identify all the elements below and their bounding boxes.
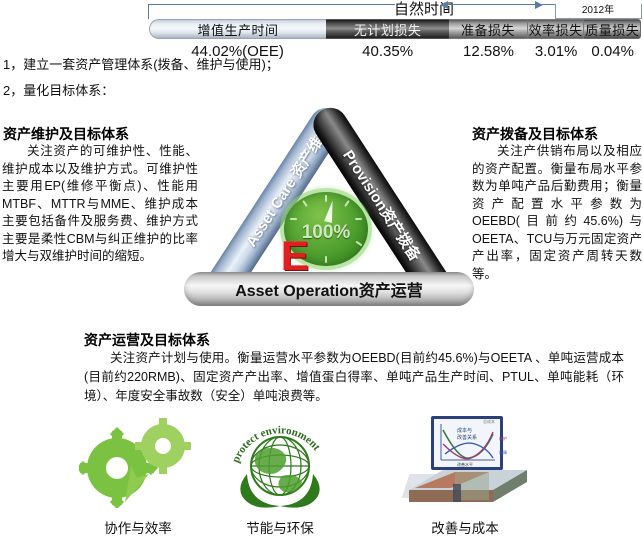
svg-text:成本与: 成本与 [457,427,472,434]
bar-segment-label: 准备损失 [461,20,515,39]
triangle-arm-label: Asset Operation资产运营 [184,272,474,306]
icon-cell-environment[interactable]: protect environment [205,414,355,510]
natural-time-label: 自然时间 [394,0,444,19]
bar-segment-label: 增值生产时间 [198,20,279,39]
asset-operation-title: 资产运营及目标体系 [84,330,210,350]
gauge-needle-icon [324,200,336,223]
protect-environment-globe-icon: protect environment [205,414,355,510]
slide-root: 自然时间 2012年 增值生产时间 无计划损失 准备损失 效率损失 质量损失 4… [0,0,643,537]
time-bracket-left [148,4,395,19]
asset-care-title: 资产维护及目标体系 [3,124,129,144]
arrow-left-icon [440,1,448,9]
icon-cell-collaboration[interactable] [63,414,213,510]
asset-provision-title: 资产拨备及目标体系 [472,124,598,144]
gears-icon [63,414,213,510]
icon-caption-environment: 节能与环保 [205,517,355,537]
year-label: 2012年 [556,3,640,18]
intro-line-2: 2，量化目标体系： [3,80,114,99]
triangle-arm-asset-operation[interactable]: Asset Operation资产运营 [184,272,474,306]
bar-value-unplanned-loss: 40.35% [326,41,449,61]
svg-text:总成本: 总成本 [483,418,495,424]
svg-text:维护: 维护 [499,435,507,441]
icon-caption-collaboration: 协作与效率 [63,517,213,537]
icon-cell-cost[interactable]: 成本与 改善关系 总成本 维护 故障 改善水平 [390,414,540,510]
bar-value-quality-loss: 0.04% [584,41,641,61]
bar-value-setup-loss: 12.58% [449,41,528,61]
intro-line-1: 1，建立一套资产管理体系(拨备、维护与使用)； [3,54,279,73]
time-breakdown-bar: 增值生产时间 无计划损失 准备损失 效率损失 质量损失 [149,19,641,39]
bar-segment-value-added-production-time[interactable]: 增值生产时间 [149,19,326,39]
cost-improvement-chart-icon: 成本与 改善关系 总成本 维护 故障 改善水平 [390,414,540,510]
bar-value-efficiency-loss: 3.01% [528,41,585,61]
svg-text:故障: 故障 [499,449,507,455]
svg-text:改善水平: 改善水平 [457,461,473,467]
svg-text:改善关系: 改善关系 [457,434,477,441]
bar-segment-label: 效率损失 [529,20,583,39]
bar-segment-unplanned-loss[interactable]: 无计划损失 [326,19,449,39]
asset-provision-body: 关注产供销布局以及相应的资产配置。衡量布局水平参数为单吨产品后勤费用；衡量资产配… [472,143,642,283]
bar-segment-label: 无计划损失 [354,20,422,39]
bar-segment-quality-loss[interactable]: 质量损失 [584,19,641,39]
gauge-grade-letter: E [272,235,318,277]
bar-segment-label: 质量损失 [585,20,639,39]
icon-caption-cost: 改善与成本 [390,517,540,537]
bar-segment-efficiency-loss[interactable]: 效率损失 [528,19,585,39]
asset-operation-body: 关注资产计划与使用。衡量运营水平参数为OEEBD(目前约45.6%)与OEETA… [84,349,624,406]
asset-management-triangle: Asset Care 资产维护 Provision资产拨备 Asset Oper… [168,92,488,320]
bar-segment-setup-loss[interactable]: 准备损失 [449,19,528,39]
